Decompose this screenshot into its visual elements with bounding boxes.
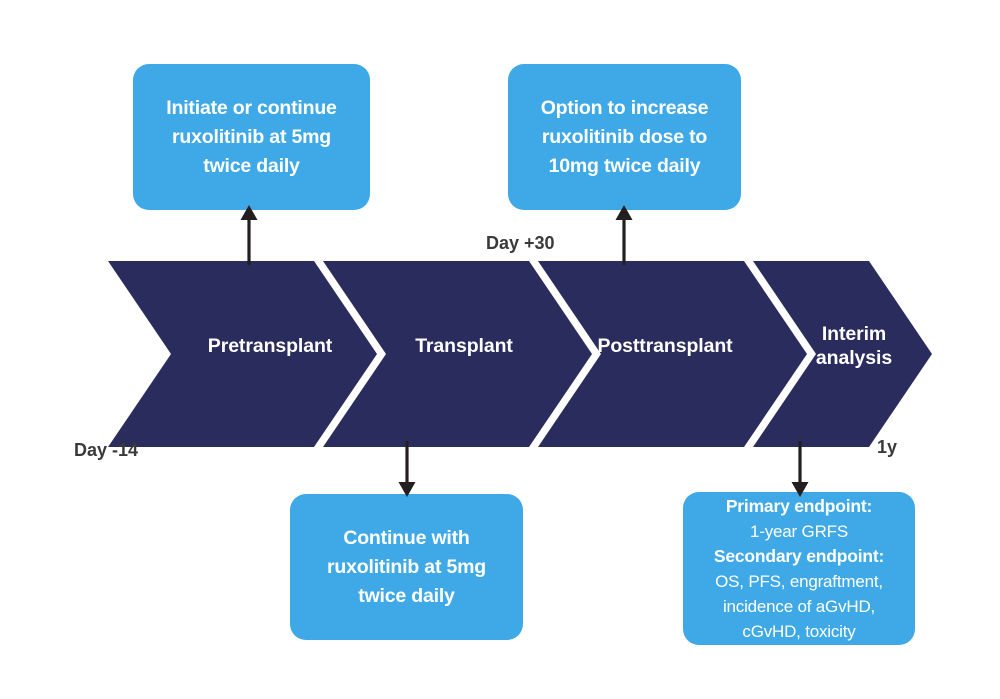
arrow-pretransplant-up	[238, 205, 260, 265]
callout-line: Option to increase	[520, 94, 729, 123]
axis-tick-start: Day -14	[74, 440, 138, 461]
endpoint-primary-value: 1-year GRFS	[693, 519, 905, 544]
callout-line: twice daily	[302, 582, 511, 611]
callout-line: ruxolitinib at 5mg	[302, 553, 511, 582]
stage-label-posttransplant: Posttransplant	[570, 334, 760, 358]
arrow-continue-dose-down	[396, 441, 418, 497]
axis-tick-end: 1y	[877, 437, 897, 458]
callout-continue-dose: Continue with ruxolitinib at 5mg twice d…	[290, 494, 523, 640]
endpoint-secondary-value: cGvHD, toxicity	[693, 619, 905, 644]
stage-label-transplant: Transplant	[380, 334, 548, 358]
callout-line: Continue with	[302, 524, 511, 553]
arrow-dose-increase-up	[613, 205, 635, 265]
arrow-endpoints-down	[789, 441, 811, 497]
callout-line: ruxolitinib at 5mg	[145, 123, 358, 152]
callout-dose-increase: Option to increase ruxolitinib dose to 1…	[508, 64, 741, 210]
stage-label-interim-analysis: Interim analysis	[780, 322, 928, 370]
endpoint-primary-heading: Primary endpoint:	[693, 494, 905, 519]
callout-line: Initiate or continue	[145, 94, 358, 123]
callout-line: twice daily	[145, 152, 358, 181]
axis-tick-mid: Day +30	[486, 233, 555, 254]
callout-endpoints: Primary endpoint: 1-year GRFS Secondary …	[683, 492, 915, 645]
callout-pretransplant-dose: Initiate or continue ruxolitinib at 5mg …	[133, 64, 370, 210]
stage-label-line: Interim	[822, 323, 886, 345]
endpoint-secondary-value: OS, PFS, engraftment,	[693, 569, 905, 594]
endpoint-secondary-value: incidence of aGvHD,	[693, 594, 905, 619]
diagram-canvas: Initiate or continue ruxolitinib at 5mg …	[0, 0, 1000, 699]
callout-line: 10mg twice daily	[520, 152, 729, 181]
stage-label-pretransplant: Pretransplant	[180, 334, 360, 358]
stage-label-line: analysis	[816, 347, 892, 369]
endpoint-secondary-heading: Secondary endpoint:	[693, 544, 905, 569]
callout-line: ruxolitinib dose to	[520, 123, 729, 152]
